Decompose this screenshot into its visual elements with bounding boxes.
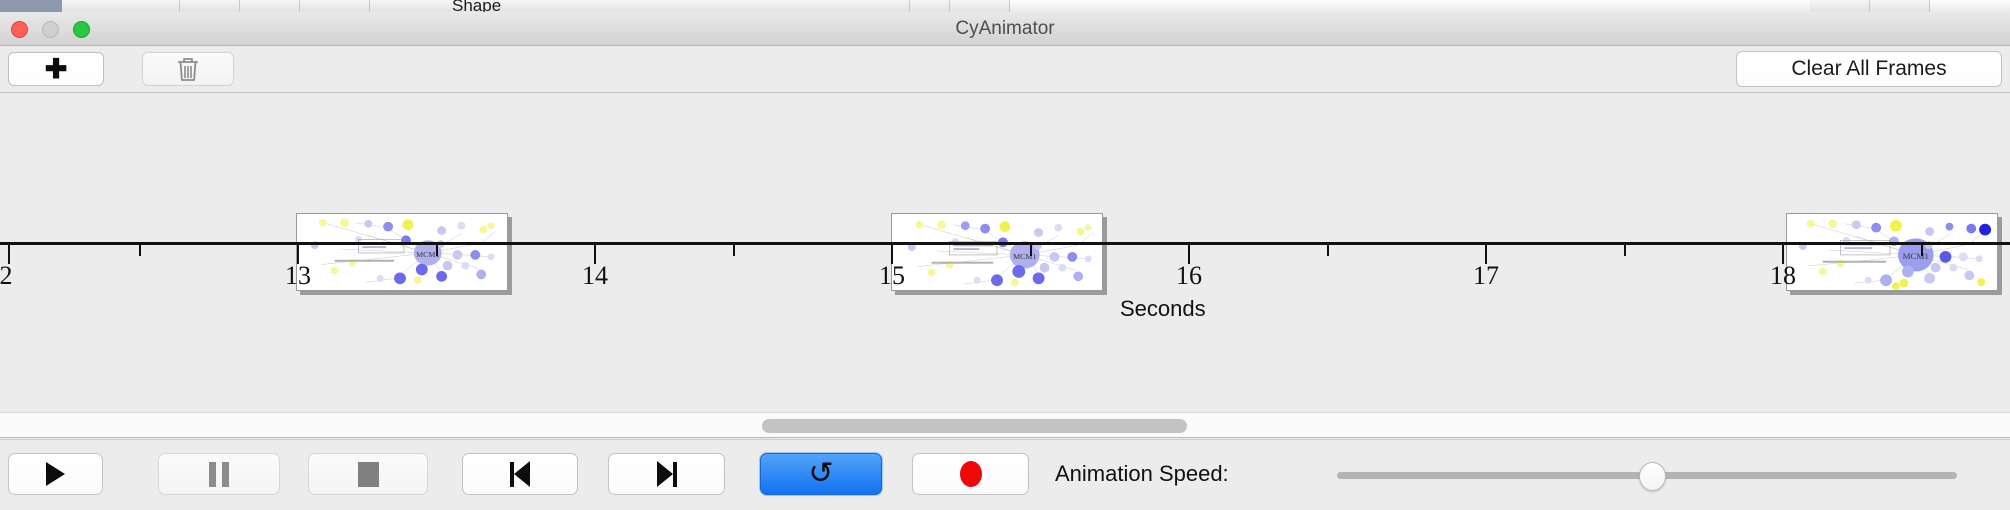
stop-button[interactable] [308, 453, 428, 495]
background-window-segment [950, 0, 1010, 12]
skip-forward-icon [657, 461, 677, 487]
pause-icon [209, 462, 229, 487]
timeline-scrollbar-thumb[interactable] [762, 419, 1187, 433]
stop-icon [358, 462, 379, 487]
skip-forward-button[interactable] [608, 453, 725, 495]
axis-tick-label: 2 [0, 261, 13, 291]
timeline-frame-thumbnail[interactable]: MCM1 [891, 213, 1103, 291]
background-window-segment [1810, 0, 1870, 12]
timeline-scrollbar-track[interactable] [0, 412, 2010, 438]
window-title: CyAnimator [0, 12, 2010, 46]
pause-button[interactable] [158, 453, 280, 495]
trash-icon [175, 55, 201, 83]
background-window-segment [240, 0, 300, 12]
loop-icon: ↺ [808, 459, 833, 489]
axis-tick-minor [139, 245, 141, 256]
background-window-segment [370, 0, 910, 12]
axis-tick-minor [1624, 245, 1626, 256]
clear-all-frames-button[interactable]: Clear All Frames [1736, 51, 2002, 87]
animation-speed-slider-thumb[interactable] [1639, 462, 1666, 491]
timeline-frame-thumbnail[interactable]: MCM1 [296, 213, 508, 291]
background-window-segment [300, 0, 370, 12]
record-button[interactable] [912, 453, 1029, 495]
add-frame-button[interactable]: ✚ [8, 52, 104, 86]
axis-tick-label: 18 [1770, 261, 1796, 291]
loop-button[interactable]: ↺ [760, 453, 882, 495]
plus-icon: ✚ [45, 56, 68, 83]
background-window-strip: Shape [0, 0, 2010, 12]
background-window-segment [910, 0, 950, 12]
background-window-segment [62, 0, 180, 12]
axis-tick-label: 14 [582, 261, 608, 291]
skip-backward-icon [510, 461, 530, 487]
network-graph-preview: MCM1 [1787, 214, 1997, 290]
axis-tick-minor [1327, 245, 1329, 256]
axis-tick-label: 17 [1473, 261, 1499, 291]
timeline-axis-line [0, 242, 2010, 245]
background-window-segment [1870, 0, 1930, 12]
background-window-label: Shape [452, 0, 501, 12]
svg-text:MCM1: MCM1 [1903, 251, 1929, 261]
toolbar: ✚ Clear All Frames [0, 46, 2010, 93]
play-icon [46, 462, 65, 486]
animation-speed-label: Animation Speed: [1055, 453, 1229, 495]
timeline-panel[interactable]: MCM1 [0, 93, 2010, 412]
timeline-frame-thumbnail[interactable]: MCM1 [1786, 213, 1998, 291]
skip-backward-button[interactable] [462, 453, 578, 495]
axis-title: Seconds [1120, 296, 1206, 322]
record-icon [960, 461, 982, 487]
clear-all-frames-label: Clear All Frames [1791, 57, 1946, 81]
axis-tick-label: 16 [1176, 261, 1202, 291]
playback-control-bar: ↺ Animation Speed: [0, 439, 2010, 510]
axis-tick-minor [1030, 245, 1032, 256]
axis-tick-minor [733, 245, 735, 256]
title-bar: CyAnimator [0, 12, 2010, 46]
background-window-segment [180, 0, 240, 12]
cyanimator-window: Shape CyAnimator ✚ Clear All Frames [0, 0, 2010, 510]
background-window-dark-segment [0, 0, 62, 12]
axis-tick-minor [436, 245, 438, 256]
axis-tick-minor [1921, 245, 1923, 256]
axis-tick-label: 13 [285, 261, 311, 291]
delete-frame-button[interactable] [142, 52, 234, 86]
axis-tick-label: 15 [879, 261, 905, 291]
play-button[interactable] [8, 453, 103, 495]
network-graph-preview: MCM1 [892, 214, 1102, 290]
svg-text:MCM1: MCM1 [1013, 252, 1036, 261]
network-graph-preview: MCM1 [297, 214, 507, 290]
